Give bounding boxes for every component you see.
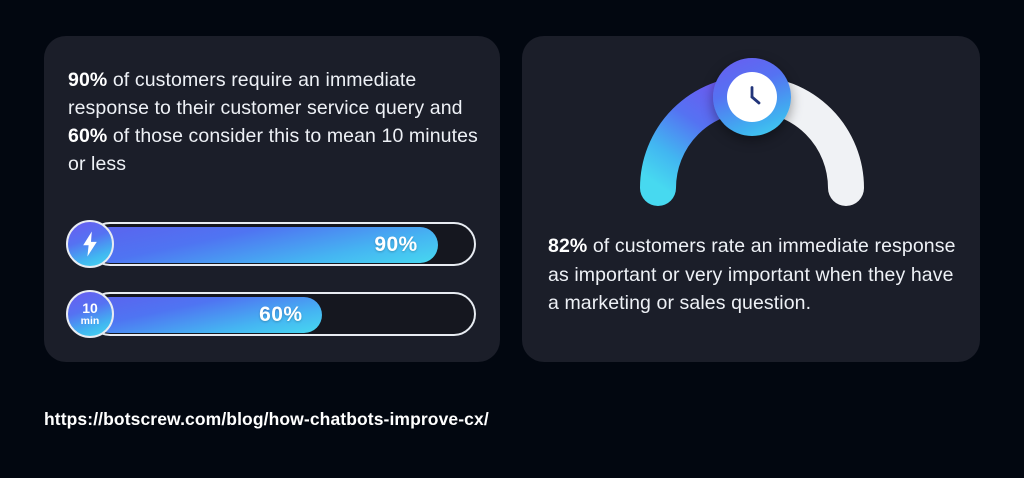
right-lead-percent: 82% [548,235,587,257]
ten-minutes-badge: 10 min [66,290,114,338]
stat-card-right: 82% of customers rate an immediate respo… [522,36,980,362]
progress-percent-label: 90% [374,233,417,257]
badge-unit-label: min [81,315,100,327]
progress-fill: 60% [92,297,322,333]
stat-card-left: 90% of customers require an immediate re… [44,36,500,362]
left-second-percent: 60% [68,125,107,147]
progress-fill: 90% [92,227,438,263]
source-url-link[interactable]: https://botscrew.com/blog/how-chatbots-i… [44,409,489,430]
left-lead-percent: 90% [68,69,107,91]
progress-track: 60% [88,292,476,336]
lightning-bolt-icon [66,220,114,268]
left-text-after-lead: of customers require an immediate respon… [68,69,463,119]
clock-icon [713,58,791,136]
clock-face [727,72,777,122]
left-card-paragraph: 90% of customers require an immediate re… [68,66,478,178]
left-text-after-second: of those consider this to mean 10 minute… [68,125,478,175]
badge-number-label: 10 [82,301,98,315]
progress-bar-immediate-response: 90% [66,220,476,268]
progress-track: 90% [88,222,476,266]
right-card-paragraph: 82% of customers rate an immediate respo… [548,232,958,318]
progress-bar-ten-minutes: 60% 10 min [66,290,476,338]
progress-percent-label: 60% [259,303,302,327]
gauge-chart [622,58,882,223]
right-text-after-lead: of customers rate an immediate response … [548,235,956,314]
